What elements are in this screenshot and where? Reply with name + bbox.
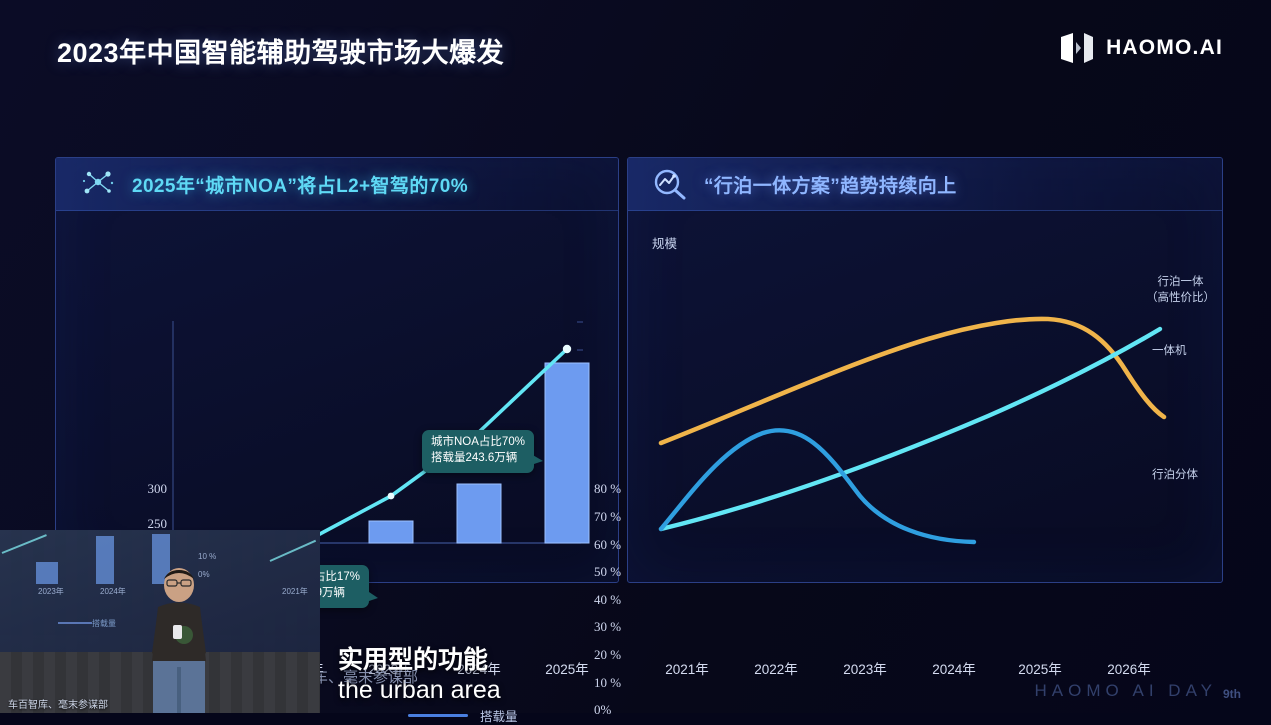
brand-logo: HAOMO.AI xyxy=(1060,32,1223,64)
watermark-text: HAOMO AI DAY xyxy=(1035,681,1218,701)
pip-trend-line xyxy=(2,534,47,554)
series-label-xingbo-yiti: 行泊一体 （高性价比） xyxy=(1146,275,1215,306)
callout-line-2: 搭载量243.6万辆 xyxy=(431,451,525,467)
magnifier-trend-icon xyxy=(650,167,690,201)
right-chart-y-label: 规模 xyxy=(652,233,677,252)
callout-noa-70: 城市NOA占比70% 搭载量243.6万辆 xyxy=(422,430,534,473)
right-panel-title: “行泊一体方案”趋势持续向上 xyxy=(704,171,957,198)
y2-tick: 80 % xyxy=(594,481,621,497)
y2-tick: 50 % xyxy=(594,564,621,580)
y2-tick: 70 % xyxy=(594,509,621,525)
subtitle-ghost-text: 车、毫末参谋部 xyxy=(313,666,418,687)
pip-bar xyxy=(96,536,114,584)
series-label-yitiji: 一体机 xyxy=(1152,344,1187,360)
y2-tick: 40 % xyxy=(594,592,621,608)
pip-caption: 车百智库、毫末参谋部 xyxy=(8,696,108,711)
legend-label: 搭载量 xyxy=(480,706,518,725)
y-tick: 300 xyxy=(148,481,168,497)
x-tick: 2024年 xyxy=(932,658,976,678)
right-chart-svg xyxy=(628,211,1222,583)
subtitle-block: 车、毫末参谋部 实用型的功能 the urban area xyxy=(338,646,501,705)
presenter-figure xyxy=(140,563,218,713)
pip-tick: 2024年 xyxy=(100,586,126,597)
haomo-m-mark-icon xyxy=(1060,32,1094,64)
bar-2024 xyxy=(457,484,501,543)
right-plot-area xyxy=(628,211,1222,583)
series-label-line-2: （高性价比） xyxy=(1146,291,1215,307)
series-label-xingbo-fenti: 行泊分体 xyxy=(1152,468,1198,484)
series-line-xingbo-fenti xyxy=(661,430,974,542)
left-chart-legend: 搭载量 xyxy=(408,706,518,725)
y2-tick: 30 % xyxy=(594,619,621,635)
left-panel-title: 2025年“城市NOA”将占L2+智驾的70% xyxy=(132,171,468,198)
series-label-line-1: 行泊一体 xyxy=(1146,275,1215,291)
right-chart-panel: “行泊一体方案”趋势持续向上 2021年 2022年 2023年 2024年 2… xyxy=(627,157,1223,583)
pip-tick: 2023年 xyxy=(38,586,64,597)
left-chart-panel: 2025年“城市NOA”将占L2+智驾的70% xyxy=(55,157,619,583)
x-tick: 2021年 xyxy=(665,658,709,678)
noa-point-2025 xyxy=(563,345,571,353)
right-panel-header: “行泊一体方案”趋势持续向上 xyxy=(628,158,1222,211)
pip-pct: 10 % xyxy=(198,552,216,561)
legend-swatch-line xyxy=(408,714,468,717)
series-line-yitiji xyxy=(661,319,1164,443)
x-tick: 2023年 xyxy=(843,658,887,678)
pip-legend: 搭载量 xyxy=(92,618,116,629)
x-tick: 2026年 xyxy=(1107,658,1151,678)
logo-text: HAOMO.AI xyxy=(1106,36,1223,60)
slide-root: 2023年中国智能辅助驾驶市场大爆发 HAOMO.AI xyxy=(0,0,1271,713)
x-tick: 2025年 xyxy=(545,658,589,678)
watermark-suffix: 9th xyxy=(1223,687,1241,701)
presenter-video-inset[interactable]: 2023年 2024年 2021年 10 % 0% 搭载量 车百智库、毫末参谋部 xyxy=(0,530,320,713)
noa-point-2023 xyxy=(388,493,395,500)
pip-legend-swatch xyxy=(58,622,92,624)
callout-line-1: 城市NOA占比70% xyxy=(431,435,525,451)
x-tick: 2025年 xyxy=(1018,658,1062,678)
page-title: 2023年中国智能辅助驾驶市场大爆发 xyxy=(57,31,504,70)
left-plot-area: 300 250 200 150 100 50 0 80 % 70 % 60 % … xyxy=(56,211,618,583)
bar-2023 xyxy=(369,521,413,543)
bar-2025 xyxy=(545,363,589,543)
series-line-xingbo-yiti xyxy=(661,329,1160,529)
y2-tick: 0% xyxy=(594,702,611,718)
network-nodes-icon xyxy=(78,167,118,201)
pip-trend-line xyxy=(270,540,316,562)
watermark: HAOMO AI DAY 9th xyxy=(1035,681,1242,701)
right-x-axis-ticks: 2021年 2022年 2023年 2024年 2025年 2026年 xyxy=(628,658,1222,678)
y2-tick: 60 % xyxy=(594,537,621,553)
pip-bar xyxy=(36,562,58,584)
left-panel-header: 2025年“城市NOA”将占L2+智驾的70% xyxy=(56,158,618,211)
x-tick: 2022年 xyxy=(754,658,798,678)
pip-tick: 2021年 xyxy=(282,586,308,597)
